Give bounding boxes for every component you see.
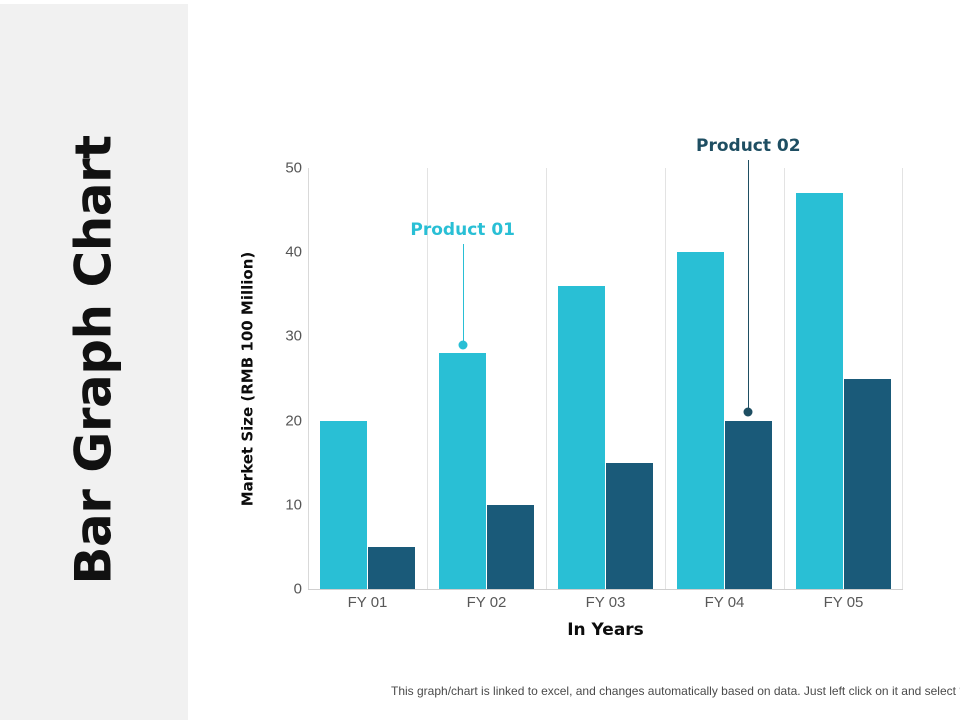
page-title: Bar Graph Chart bbox=[0, 0, 188, 720]
bar bbox=[487, 505, 535, 589]
x-axis-tick-labels: FY 01FY 02FY 03FY 04FY 05 bbox=[308, 594, 903, 618]
category-gridline bbox=[546, 168, 547, 589]
page-title-text: Bar Graph Chart bbox=[65, 135, 123, 584]
bar bbox=[725, 421, 773, 589]
bar bbox=[368, 547, 416, 589]
category-gridline bbox=[784, 168, 785, 589]
y-tick-label: 50 bbox=[262, 160, 302, 177]
bar bbox=[677, 252, 725, 589]
y-tick-label: 40 bbox=[262, 244, 302, 261]
x-tick-label: FY 01 bbox=[348, 594, 388, 611]
x-tick-label: FY 04 bbox=[705, 594, 745, 611]
bar bbox=[320, 421, 368, 589]
footnote-text: This graph/chart is linked to excel, and… bbox=[391, 684, 960, 698]
y-tick-label: 0 bbox=[262, 581, 302, 598]
category-gridline bbox=[665, 168, 666, 589]
annotation-label: Product 01 bbox=[410, 220, 515, 240]
annotation-dot bbox=[744, 408, 753, 417]
y-tick-label: 30 bbox=[262, 328, 302, 345]
title-panel: Bar Graph Chart bbox=[0, 0, 190, 720]
y-tick-label: 10 bbox=[262, 496, 302, 513]
y-axis-title: Market Size (RMB 100 Million) bbox=[232, 168, 262, 589]
chart-area: 01020304050 Market Size (RMB 100 Million… bbox=[188, 0, 960, 720]
annotation-dot bbox=[458, 340, 467, 349]
annotation-leader-line bbox=[748, 160, 749, 413]
x-tick-label: FY 05 bbox=[824, 594, 864, 611]
y-axis-title-text: Market Size (RMB 100 Million) bbox=[238, 251, 256, 506]
y-tick-label: 20 bbox=[262, 412, 302, 429]
x-axis-title: In Years bbox=[308, 620, 903, 640]
bar bbox=[558, 286, 606, 589]
x-tick-label: FY 02 bbox=[467, 594, 507, 611]
x-axis-line bbox=[308, 589, 903, 590]
bar bbox=[844, 379, 892, 590]
annotation-label: Product 02 bbox=[696, 136, 801, 156]
bar bbox=[439, 353, 487, 589]
plot-region: Product 01Product 02 bbox=[308, 168, 903, 589]
bar bbox=[796, 193, 844, 589]
bar bbox=[606, 463, 654, 589]
x-tick-label: FY 03 bbox=[586, 594, 626, 611]
annotation-leader-line bbox=[463, 244, 464, 345]
category-gridline bbox=[902, 168, 903, 589]
